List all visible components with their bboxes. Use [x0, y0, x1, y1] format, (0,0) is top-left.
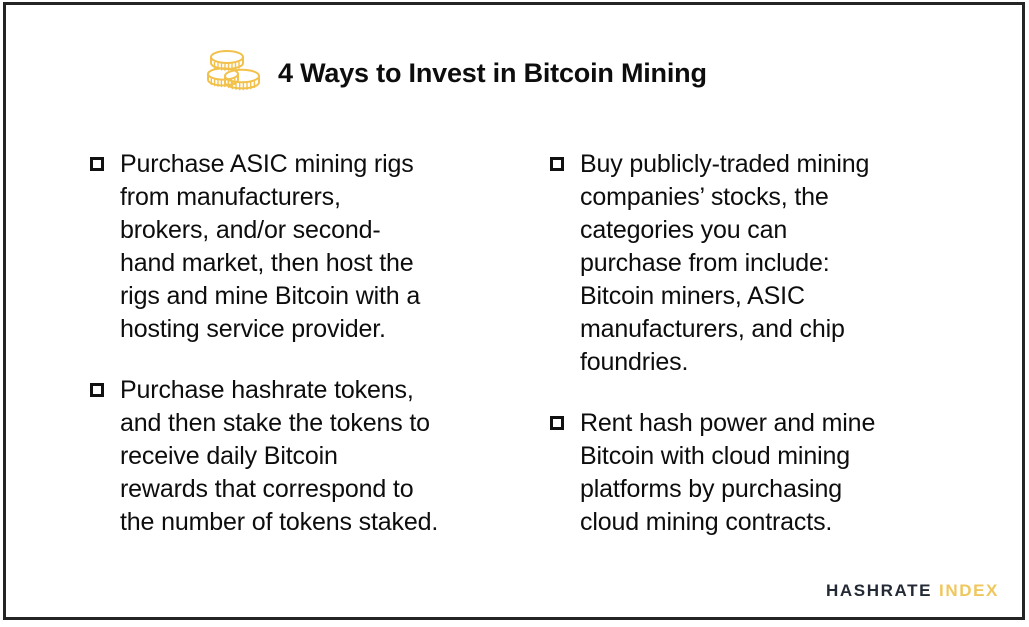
logo-secondary-text: INDEX: [939, 581, 999, 600]
page-title: 4 Ways to Invest in Bitcoin Mining: [278, 60, 707, 87]
bullet-columns: Purchase ASIC mining rigs from manufactu…: [88, 148, 968, 539]
list-item: Rent hash power and mine Bitcoin with cl…: [548, 407, 1003, 539]
list-item-text: Purchase ASIC mining rigs from manufactu…: [120, 148, 543, 346]
list-item: Purchase hashrate tokens, and then stake…: [88, 374, 543, 539]
list-item-text: Rent hash power and mine Bitcoin with cl…: [580, 407, 1003, 539]
list-item: Purchase ASIC mining rigs from manufactu…: [88, 148, 543, 346]
open-square-bullet-icon: [548, 407, 580, 440]
hashrate-index-logo: HASHRATEINDEX: [826, 581, 999, 601]
list-item-text: Purchase hashrate tokens, and then stake…: [120, 374, 543, 539]
logo-primary-text: HASHRATE: [826, 581, 932, 600]
slide-canvas: 4 Ways to Invest in Bitcoin Mining Purch…: [0, 0, 1029, 627]
list-item-text: Buy publicly-traded mining companies’ st…: [580, 148, 1003, 379]
stacked-coins-icon: [206, 48, 262, 98]
list-item: Buy publicly-traded mining companies’ st…: [548, 148, 1003, 379]
open-square-bullet-icon: [88, 374, 120, 407]
open-square-bullet-icon: [88, 148, 120, 181]
open-square-bullet-icon: [548, 148, 580, 181]
slide-header: 4 Ways to Invest in Bitcoin Mining: [206, 46, 707, 100]
right-column: Buy publicly-traded mining companies’ st…: [548, 148, 1003, 539]
left-column: Purchase ASIC mining rigs from manufactu…: [88, 148, 543, 539]
